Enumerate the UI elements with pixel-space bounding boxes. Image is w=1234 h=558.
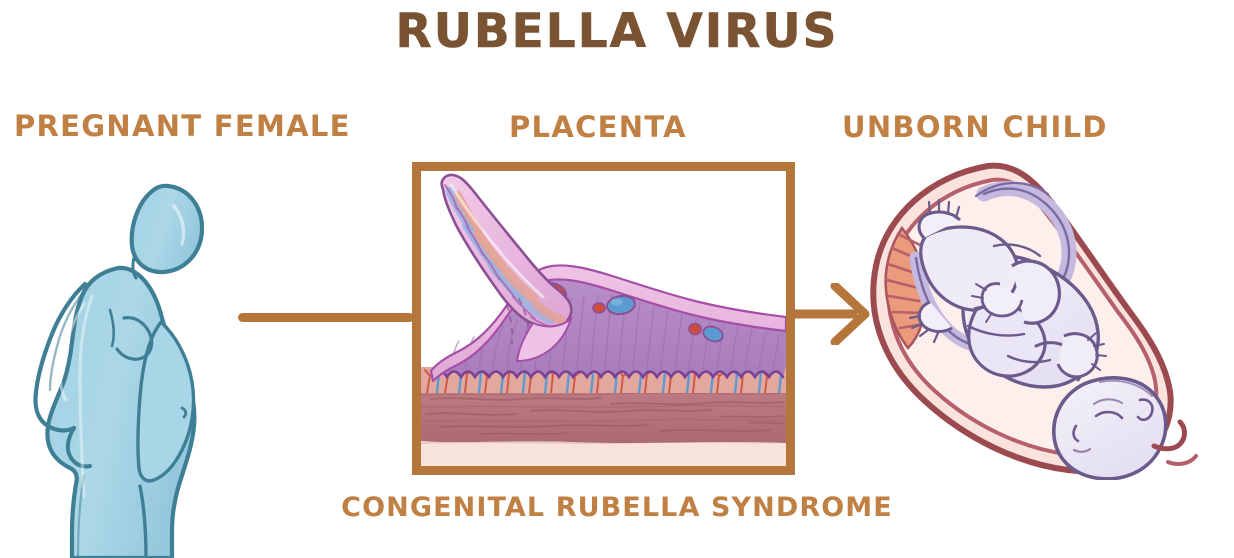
diagram-caption: CONGENITAL RUBELLA SYNDROME [0,494,1234,521]
label-unborn-child: UNBORN CHILD [842,113,1108,142]
placenta-illustration [421,171,786,466]
right-arrow [795,283,870,345]
placenta-frame [412,162,795,475]
page-title: RUBELLA VIRUS [0,8,1234,55]
label-pregnant-female: PREGNANT FEMALE [14,112,351,141]
illustration-canvas: RUBELLA VIRUS PREGNANT FEMALE PLACENTA U… [0,0,1234,558]
left-connector [238,313,414,322]
unborn-child-figure [868,150,1208,480]
label-placenta: PLACENTA [509,113,687,142]
